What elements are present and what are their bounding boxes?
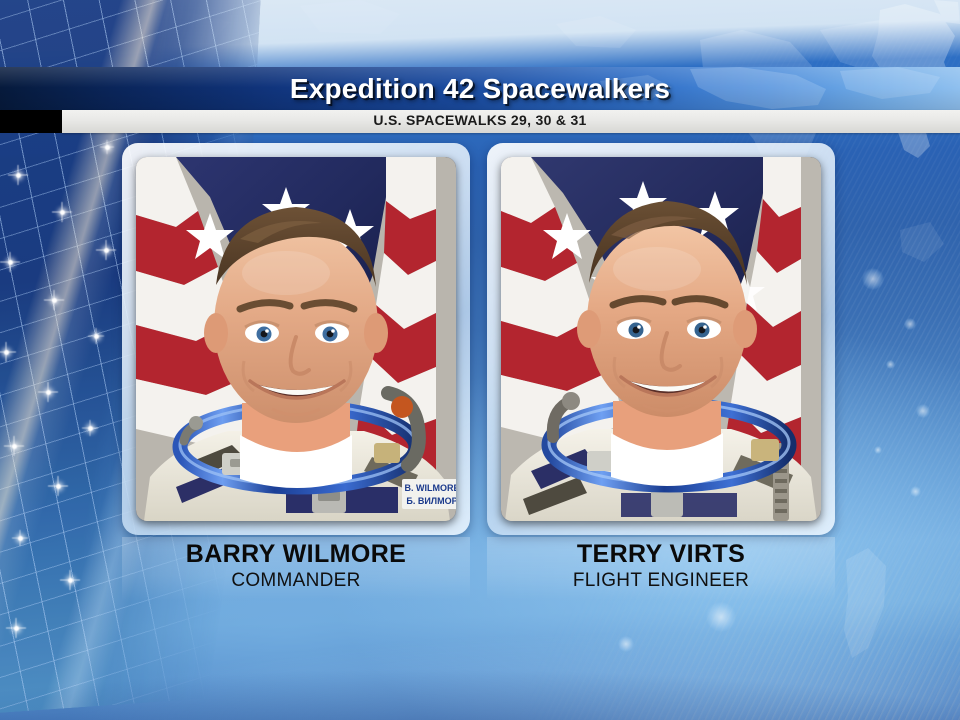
astronaut-photo-wilmore: B. WILMORE Б. ВИЛМОР (136, 157, 456, 521)
page-title: Expedition 42 Spacewalkers (0, 73, 960, 105)
title-bar: Expedition 42 Spacewalkers (0, 67, 960, 110)
astronaut-role: FLIGHT ENGINEER (487, 570, 835, 592)
astronaut-photo-virts (501, 157, 821, 521)
astronaut-card-virts (487, 143, 835, 535)
broadcast-graphic: Expedition 42 Spacewalkers U.S. SPACEWAL… (0, 0, 960, 720)
name-plate-wilmore: BARRY WILMORE COMMANDER (122, 537, 470, 601)
astronaut-role: COMMANDER (122, 570, 470, 592)
svg-text:B. WILMORE: B. WILMORE (405, 483, 457, 493)
svg-text:Б. ВИЛМОР: Б. ВИЛМОР (406, 496, 456, 506)
page-subtitle: U.S. SPACEWALKS 29, 30 & 31 (0, 112, 960, 128)
astronaut-name: TERRY VIRTS (487, 540, 835, 569)
astronaut-card-wilmore: B. WILMORE Б. ВИЛМОР (122, 143, 470, 535)
name-plate-virts: TERRY VIRTS FLIGHT ENGINEER (487, 537, 835, 601)
astronaut-name: BARRY WILMORE (122, 540, 470, 569)
